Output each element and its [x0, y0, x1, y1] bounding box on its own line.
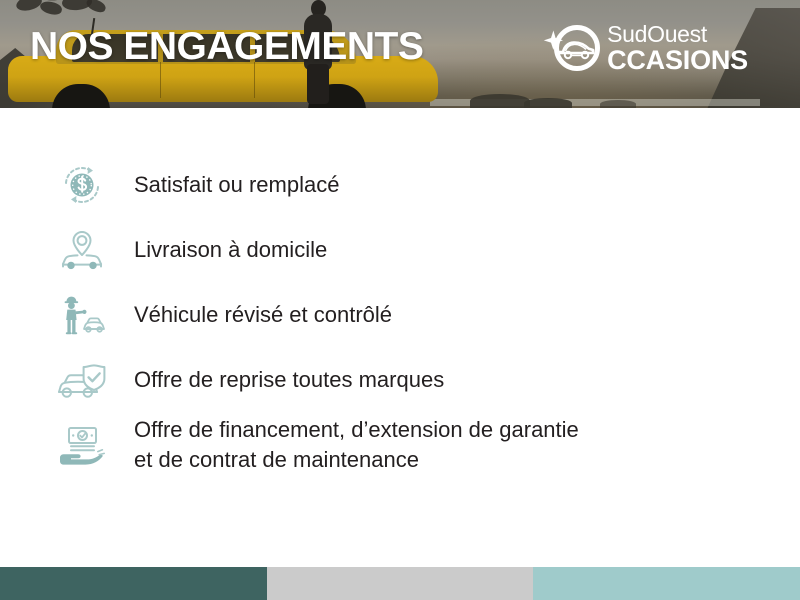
list-item: Offre de financement, d’extension de gar… — [50, 412, 750, 477]
list-item-label: Véhicule révisé et contrôlé — [134, 300, 392, 329]
list-item: Satisfait ou remplacé — [50, 152, 750, 217]
foliage-decoration — [10, 0, 130, 28]
page-title: NOS ENGAGEMENTS — [30, 27, 423, 66]
header-banner: NOS ENGAGEMENTS SudOuest CCASIONS — [0, 0, 800, 108]
footer-segment-dark-teal — [0, 567, 267, 600]
list-item-label: Offre de financement, d’extension de gar… — [134, 415, 579, 473]
shrub — [600, 100, 636, 108]
money-back-guarantee-icon — [50, 157, 114, 213]
car-in-circle-sparkle-icon — [541, 20, 603, 76]
logo-line-2: CCASIONS — [607, 47, 748, 74]
list-item-label: Offre de reprise toutes marques — [134, 365, 444, 394]
car-shield-check-icon — [50, 352, 114, 408]
list-item-label: Satisfait ou remplacé — [134, 170, 339, 199]
home-delivery-location-car-icon — [50, 222, 114, 278]
list-item: Véhicule révisé et contrôlé — [50, 282, 750, 347]
footer-segment-light-gray — [267, 567, 533, 600]
logo-line-1: SudOuest — [607, 23, 748, 46]
list-item: Offre de reprise toutes marques — [50, 347, 750, 412]
brand-logo[interactable]: SudOuest CCASIONS — [541, 20, 748, 76]
shrub — [524, 98, 572, 108]
shrub — [470, 94, 530, 108]
list-item-label: Livraison à domicile — [134, 235, 327, 264]
footer-color-bar — [0, 567, 800, 600]
footer-segment-light-teal — [533, 567, 800, 600]
hand-holding-money-icon — [50, 417, 114, 473]
list-item: Livraison à domicile — [50, 217, 750, 282]
commitments-list: Satisfait ou remplacé Livraison à domici… — [50, 152, 750, 477]
mechanic-inspection-icon — [50, 287, 114, 343]
